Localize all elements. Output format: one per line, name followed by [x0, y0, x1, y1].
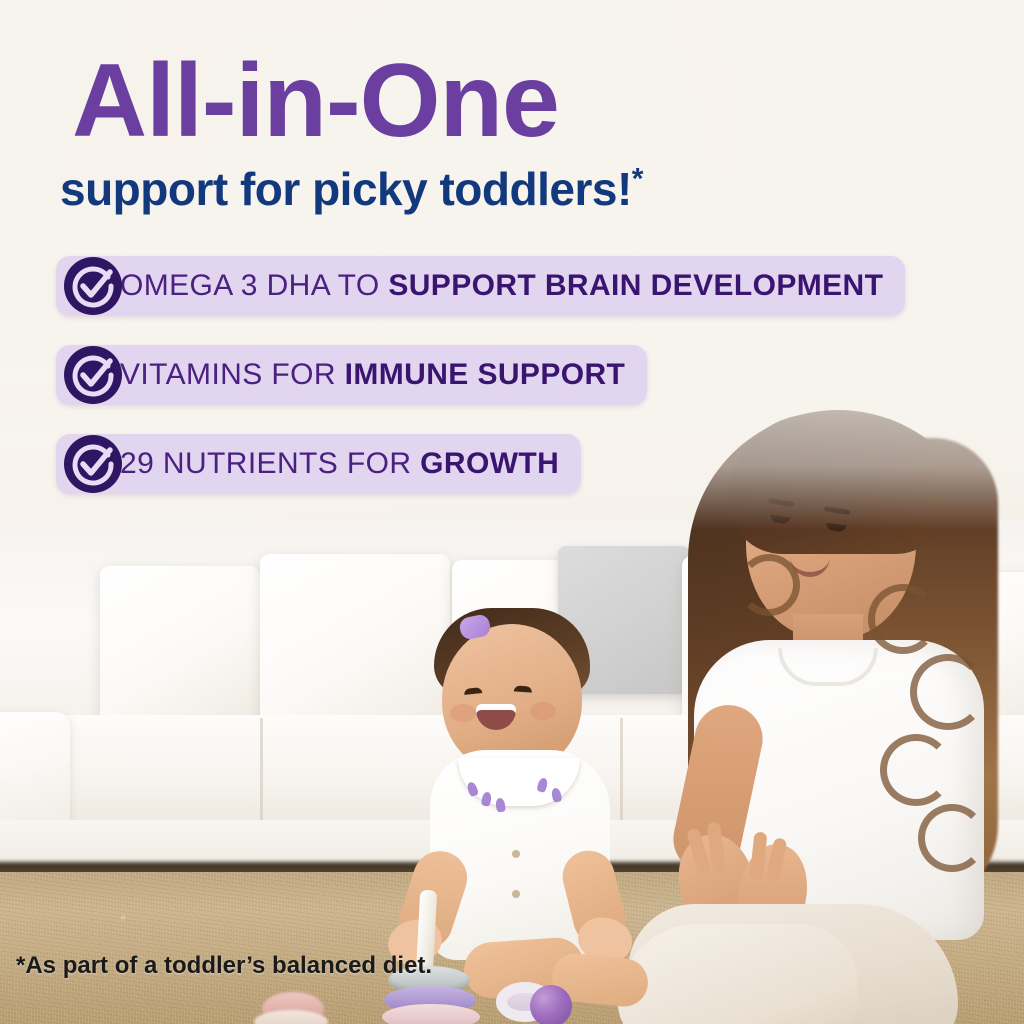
sofa-arm — [0, 712, 70, 830]
sofa-pillow — [100, 566, 260, 726]
toddler-cheek — [450, 704, 476, 722]
stacking-ring-pink — [382, 1004, 480, 1024]
toddler-eye — [514, 685, 532, 692]
benefit-list: OMEGA 3 DHA TO SUPPORT BRAIN DEVELOPMENT… — [56, 256, 905, 523]
toddler-button — [512, 850, 520, 858]
toddler-cheek — [530, 702, 556, 720]
benefit-item-nutrients: 29 NUTRIENTS FOR GROWTH — [56, 434, 581, 494]
check-circle-icon — [62, 433, 124, 495]
woman-hair-curl — [868, 584, 938, 654]
benefit-text: 29 NUTRIENTS FOR GROWTH — [120, 447, 559, 481]
page-title: All-in-One — [72, 48, 559, 154]
ad-creative: All-in-One support for picky toddlers!* … — [0, 0, 1024, 1024]
subheadline: support for picky toddlers!* — [60, 162, 643, 216]
check-circle-icon — [62, 344, 124, 406]
woman-hair-curl — [918, 804, 986, 872]
subheadline-asterisk: * — [632, 163, 643, 196]
woman-hair-curl — [738, 554, 800, 616]
disclaimer-footnote: *As part of a toddler’s balanced diet. — [16, 952, 432, 980]
seat-divider — [260, 718, 263, 826]
toddler-button — [512, 890, 520, 898]
purple-ball-toy — [530, 985, 572, 1024]
woman-hair-curl — [880, 734, 952, 806]
subheadline-text: support for picky toddlers! — [60, 163, 632, 215]
benefit-text: VITAMINS FOR IMMUNE SUPPORT — [120, 358, 625, 392]
benefit-item-omega3: OMEGA 3 DHA TO SUPPORT BRAIN DEVELOPMENT — [56, 256, 905, 316]
benefit-text: OMEGA 3 DHA TO SUPPORT BRAIN DEVELOPMENT — [120, 269, 883, 303]
woman-hair-curl — [910, 654, 986, 730]
check-circle-icon — [62, 255, 124, 317]
benefit-item-vitamins: VITAMINS FOR IMMUNE SUPPORT — [56, 345, 647, 405]
